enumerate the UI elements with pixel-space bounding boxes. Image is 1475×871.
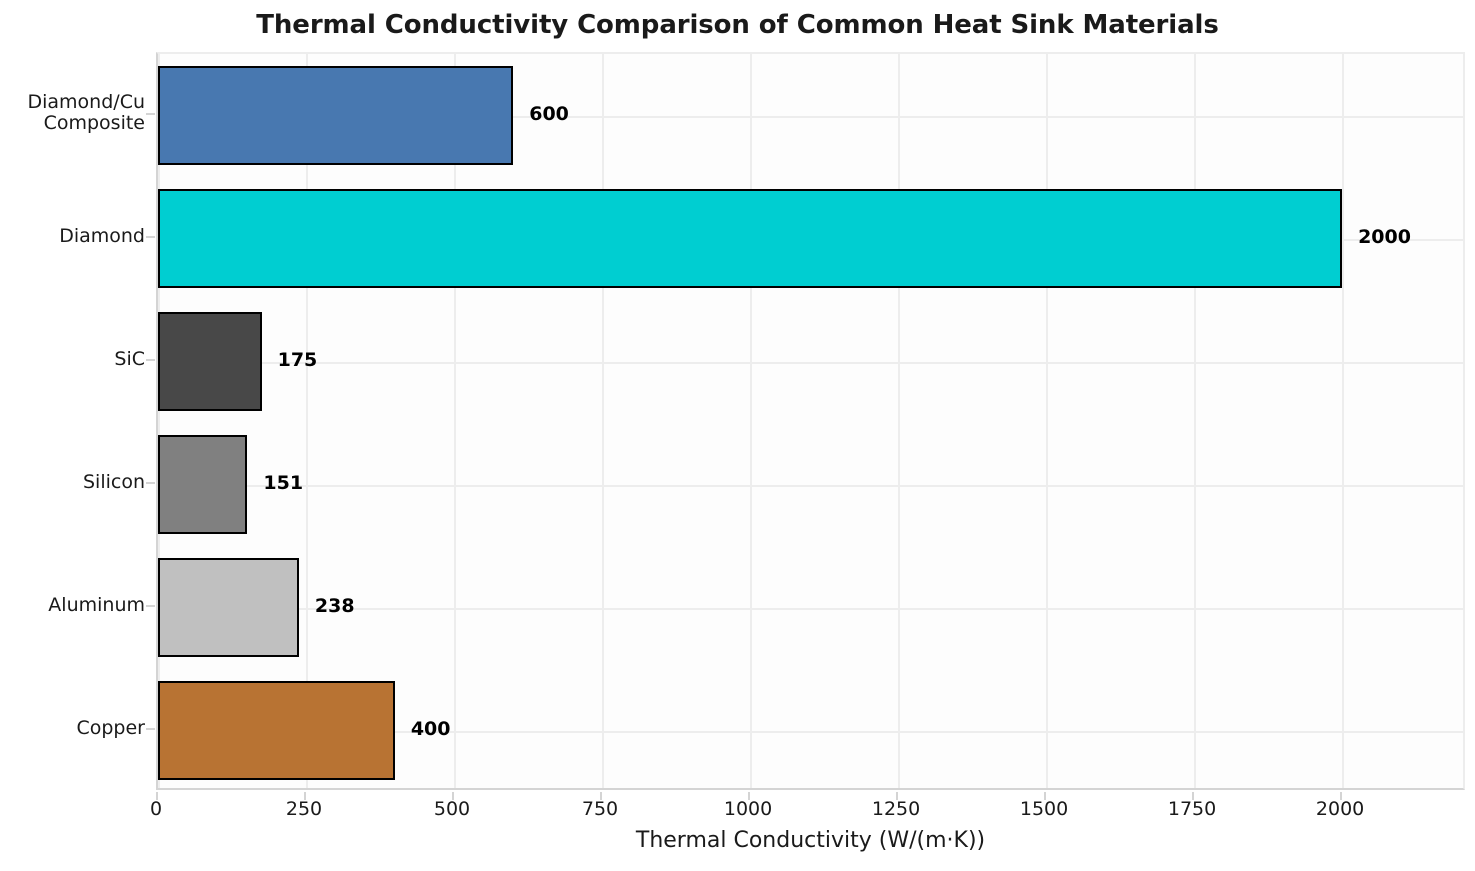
y-tick-mark xyxy=(146,482,155,484)
bar-value-label: 2000 xyxy=(1358,226,1411,248)
x-tick-mark xyxy=(1044,792,1046,800)
y-tick-label: Silicon xyxy=(83,472,145,494)
x-tick-mark xyxy=(452,792,454,800)
bar xyxy=(158,312,262,410)
gridline-horizontal xyxy=(158,362,1463,364)
y-tick-mark xyxy=(146,236,155,238)
gridline-vertical xyxy=(1342,54,1344,788)
x-tick-label: 2000 xyxy=(1316,798,1364,820)
x-tick-mark xyxy=(600,792,602,800)
x-tick-mark xyxy=(748,792,750,800)
x-tick-label: 1500 xyxy=(1020,798,1068,820)
y-tick-label: SiC xyxy=(114,349,145,371)
gridline-horizontal xyxy=(158,485,1463,487)
y-tick-mark xyxy=(146,728,155,730)
y-tick-mark xyxy=(146,113,155,115)
x-tick-label: 1000 xyxy=(724,798,772,820)
plot-area xyxy=(156,52,1465,790)
bar xyxy=(158,681,395,779)
y-tick-mark xyxy=(146,359,155,361)
x-tick-mark xyxy=(1340,792,1342,800)
gridline-vertical xyxy=(1046,54,1048,788)
x-axis-title: Thermal Conductivity (W/(m·K)) xyxy=(156,828,1465,853)
gridline-vertical xyxy=(1194,54,1196,788)
bar-value-label: 238 xyxy=(315,595,355,617)
bar-value-label: 175 xyxy=(278,349,318,371)
x-tick-mark xyxy=(896,792,898,800)
x-tick-label: 1750 xyxy=(1168,798,1216,820)
x-tick-label: 500 xyxy=(434,798,470,820)
y-tick-label: Aluminum xyxy=(48,595,145,617)
y-tick-mark xyxy=(146,605,155,607)
bar-value-label: 151 xyxy=(263,472,303,494)
y-tick-label: Diamond xyxy=(59,226,145,248)
x-tick-label: 0 xyxy=(150,798,162,820)
gridline-vertical xyxy=(898,54,900,788)
x-tick-mark xyxy=(1192,792,1194,800)
bar-value-label: 600 xyxy=(529,103,569,125)
y-tick-label: Diamond/Cu Composite xyxy=(28,92,146,136)
chart-figure: Thermal Conductivity Comparison of Commo… xyxy=(0,0,1475,871)
bar xyxy=(158,435,247,533)
gridline-vertical xyxy=(602,54,604,788)
x-tick-mark xyxy=(304,792,306,800)
bar xyxy=(158,558,299,656)
x-tick-mark xyxy=(156,792,158,800)
chart-title: Thermal Conductivity Comparison of Commo… xyxy=(0,10,1475,40)
x-tick-label: 250 xyxy=(286,798,322,820)
x-tick-label: 1250 xyxy=(872,798,920,820)
y-tick-label: Copper xyxy=(76,718,145,740)
x-tick-label: 750 xyxy=(582,798,618,820)
bar xyxy=(158,189,1342,287)
bar xyxy=(158,66,513,164)
gridline-vertical xyxy=(750,54,752,788)
bar-value-label: 400 xyxy=(411,718,451,740)
